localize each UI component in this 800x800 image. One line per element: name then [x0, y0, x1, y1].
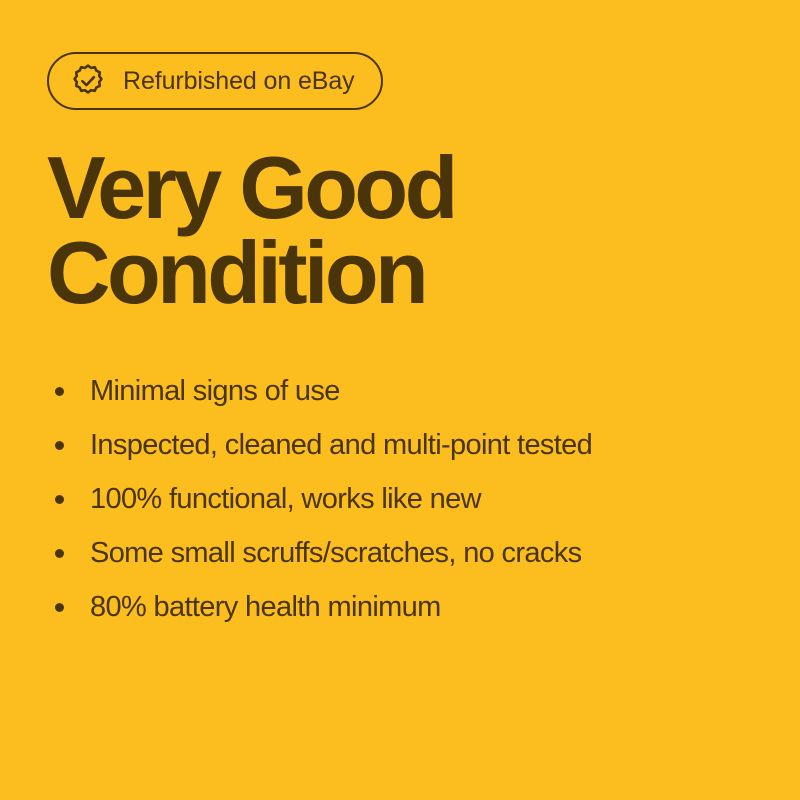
bullet-dot-icon — [55, 387, 64, 396]
list-item-label: Some small scruffs/scratches, no cracks — [90, 539, 581, 568]
list-item: Some small scruffs/scratches, no cracks — [47, 526, 767, 580]
bullet-dot-icon — [55, 441, 64, 450]
list-item: Minimal signs of use — [47, 364, 767, 418]
list-item-label: 100% functional, works like new — [90, 485, 481, 514]
page-title: Very Good Condition — [47, 145, 747, 316]
refurbished-badge[interactable]: Refurbished on eBay — [47, 52, 383, 110]
bullet-dot-icon — [55, 549, 64, 558]
list-item-label: 80% battery health minimum — [90, 593, 441, 622]
bullet-dot-icon — [55, 495, 64, 504]
list-item: Inspected, cleaned and multi-point teste… — [47, 418, 767, 472]
list-item: 80% battery health minimum — [47, 580, 767, 634]
bullet-dot-icon — [55, 603, 64, 612]
page-title-line-1: Very Good — [47, 145, 747, 230]
refurbished-badge-label: Refurbished on eBay — [123, 69, 355, 94]
list-item: 100% functional, works like new — [47, 472, 767, 526]
verified-rosette-check-icon — [70, 63, 106, 99]
refurbished-condition-card: Refurbished on eBay Very Good Condition … — [0, 0, 800, 800]
page-title-line-2: Condition — [47, 230, 747, 315]
list-item-label: Inspected, cleaned and multi-point teste… — [90, 431, 592, 460]
condition-feature-list: Minimal signs of use Inspected, cleaned … — [47, 364, 767, 634]
list-item-label: Minimal signs of use — [90, 377, 340, 406]
